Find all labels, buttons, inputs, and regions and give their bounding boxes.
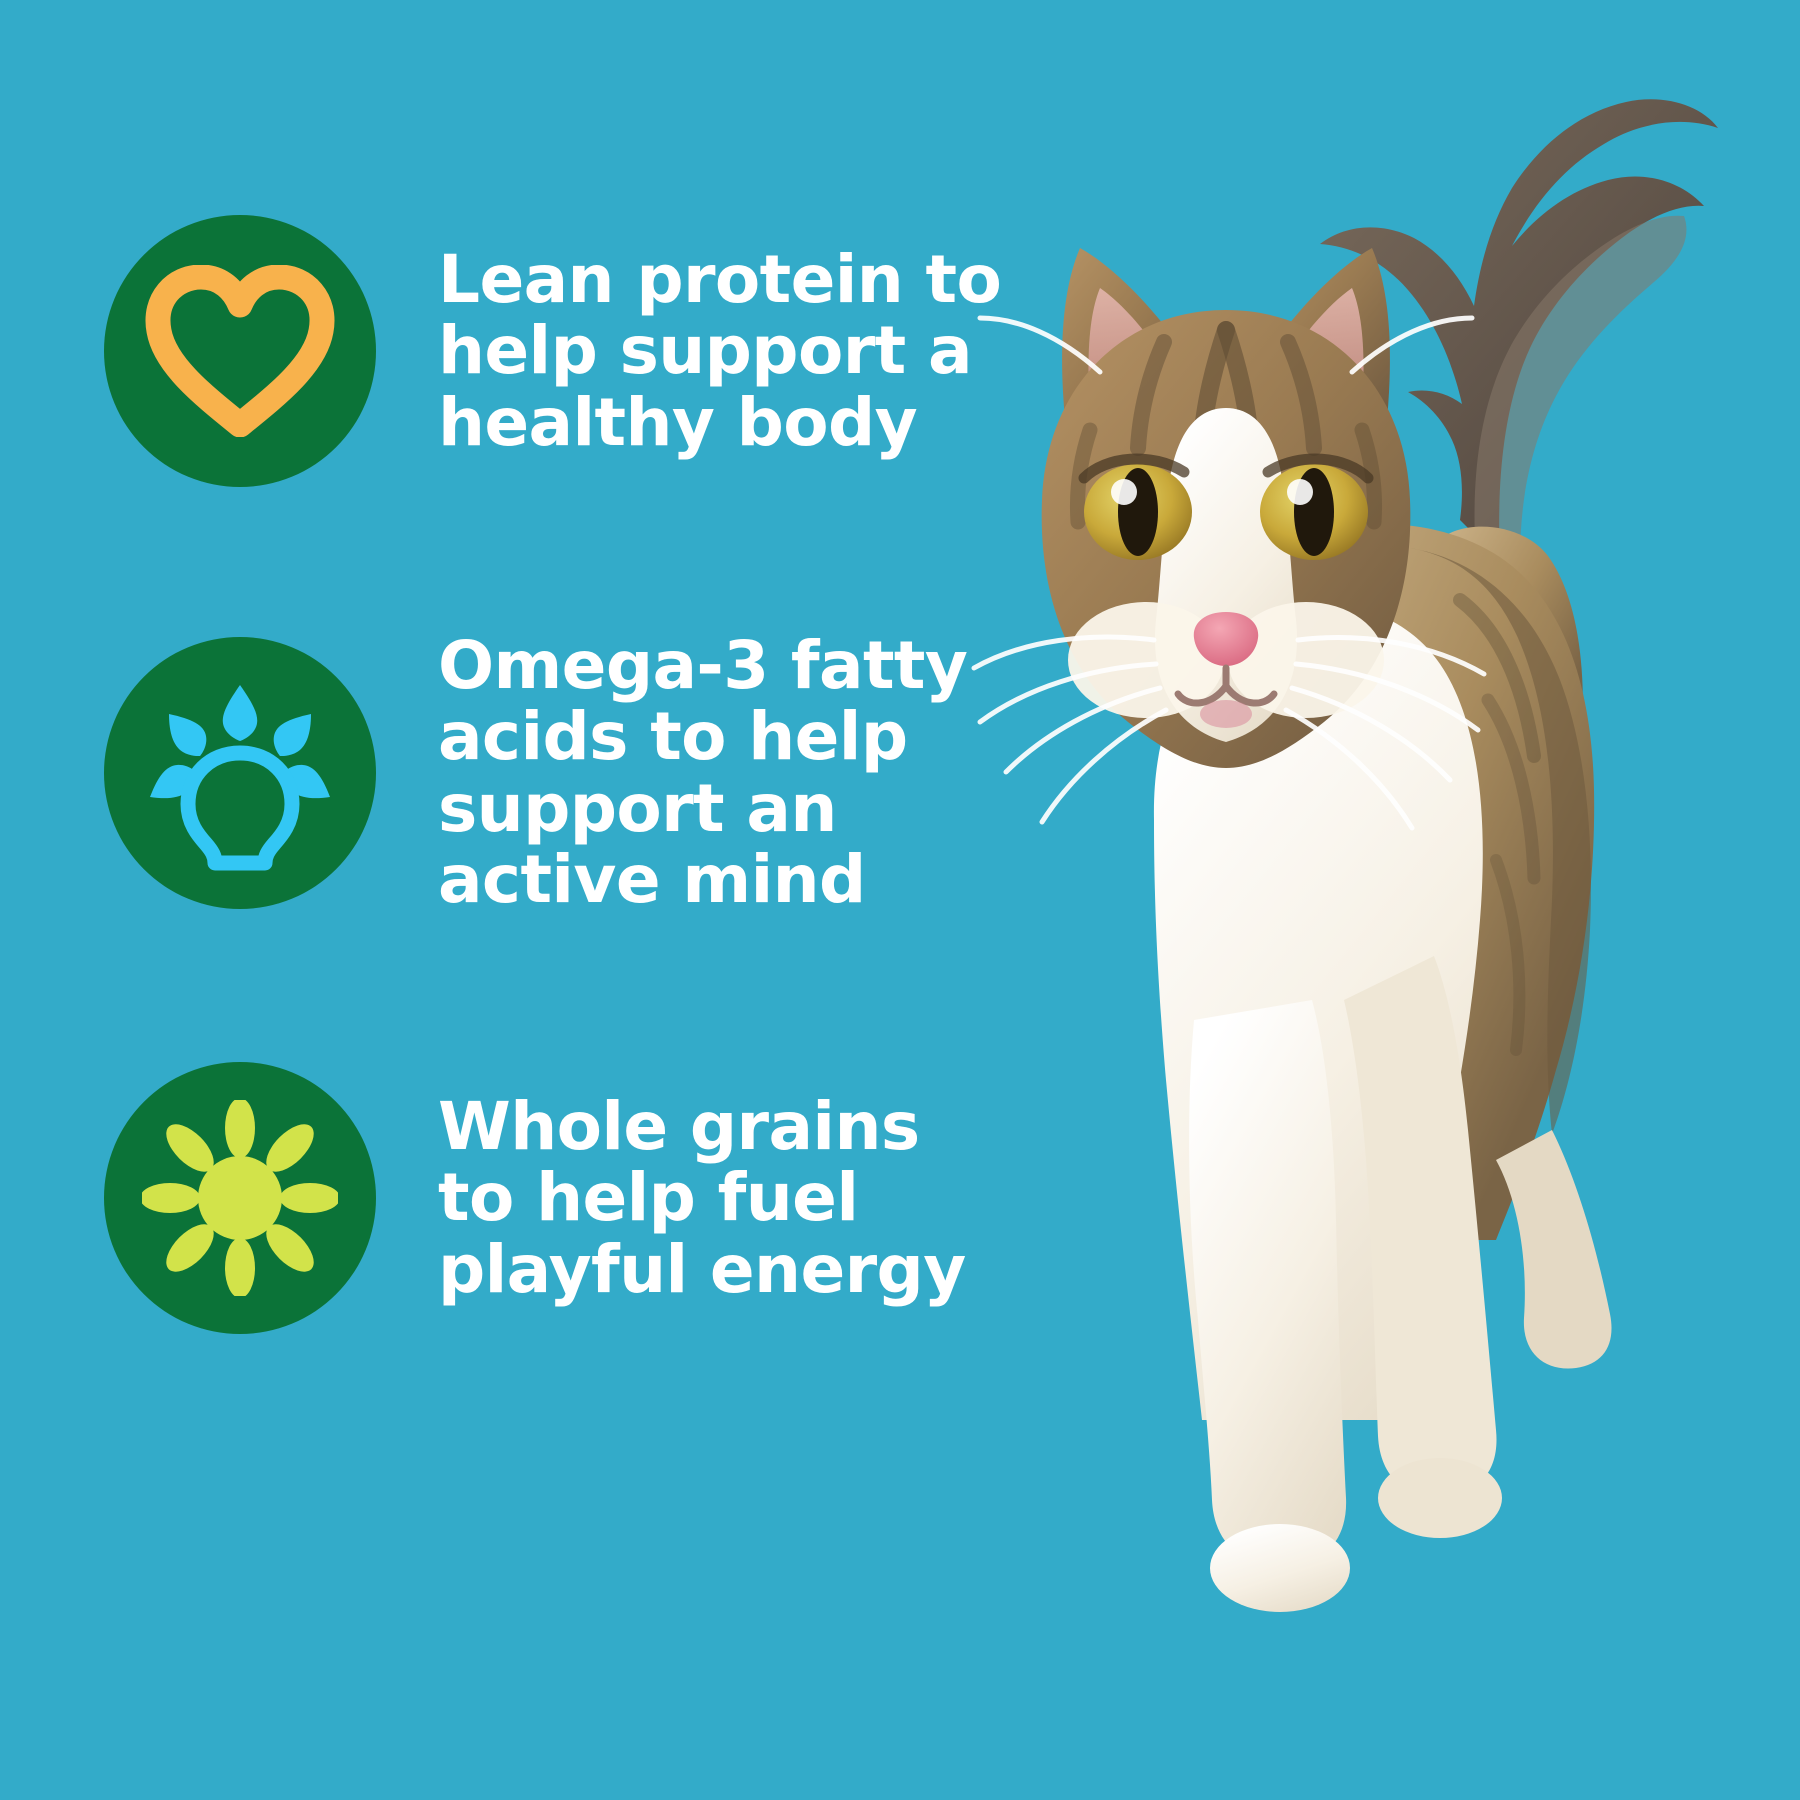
- feature-text-whole-grains: Whole grains to help fuel playful energy: [438, 1091, 958, 1305]
- cat-eye-right: [1260, 459, 1368, 560]
- sun-icon-badge: [104, 1062, 376, 1334]
- feature-line: active mind: [438, 844, 958, 915]
- feature-list: Lean protein to help support a healthy b…: [0, 0, 1000, 1800]
- cat-tail: [1320, 99, 1718, 760]
- feature-line: acids to help: [438, 701, 958, 772]
- cat-ear-left: [1062, 248, 1208, 430]
- sun-icon: [142, 1100, 338, 1296]
- lightbulb-icon: [142, 675, 338, 871]
- cat-photo: [940, 0, 1800, 1800]
- feature-text-omega-3: Omega-3 fatty acids to help support an a…: [438, 630, 958, 915]
- feature-line: Omega-3 fatty: [438, 630, 958, 701]
- cat-nose: [1194, 612, 1258, 666]
- cat-eye-left: [1084, 459, 1192, 560]
- feature-text-lean-protein: Lean protein to help support a healthy b…: [438, 244, 958, 458]
- feature-line: playful energy: [438, 1234, 958, 1305]
- cat-legs: [1189, 956, 1611, 1612]
- cat-head: [974, 248, 1484, 828]
- cat-chest: [1154, 605, 1483, 1420]
- feature-item-whole-grains: Whole grains to help fuel playful energy: [0, 1062, 960, 1334]
- cat-paw: [1210, 1524, 1350, 1612]
- feature-item-omega-3: Omega-3 fatty acids to help support an a…: [0, 630, 960, 915]
- heart-icon-badge: [104, 215, 376, 487]
- feature-line: help support a: [438, 315, 958, 386]
- heart-icon: [145, 265, 335, 437]
- cat-body: [1172, 524, 1594, 1240]
- feature-line: Lean protein to: [438, 244, 958, 315]
- feature-line: healthy body: [438, 387, 958, 458]
- feature-line: support an: [438, 773, 958, 844]
- cat-whiskers: [974, 318, 1484, 828]
- lightbulb-icon-badge: [104, 637, 376, 909]
- promo-banner: Lean protein to help support a healthy b…: [0, 0, 1800, 1800]
- cat-ear-right: [1244, 248, 1390, 430]
- feature-item-lean-protein: Lean protein to help support a healthy b…: [0, 215, 960, 487]
- cat-paw: [1378, 1458, 1502, 1538]
- feature-line: Whole grains: [438, 1091, 958, 1162]
- feature-line: to help fuel: [438, 1162, 958, 1233]
